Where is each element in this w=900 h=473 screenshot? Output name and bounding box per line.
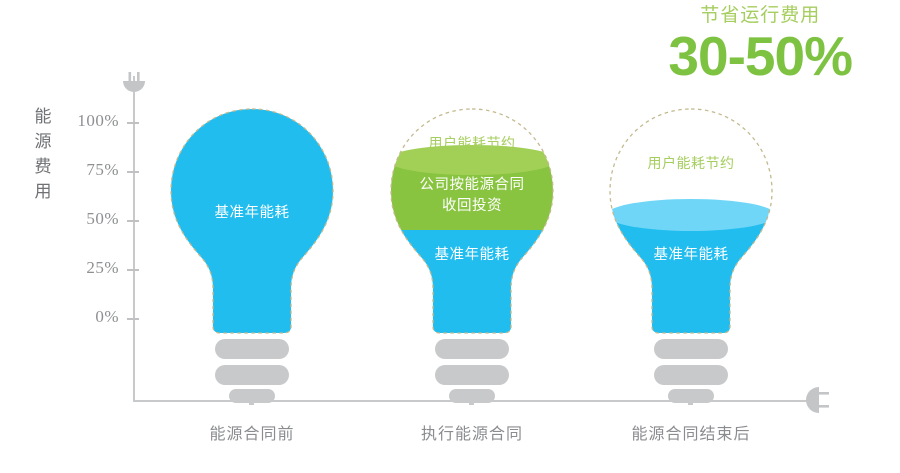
- y-tickmark: [127, 122, 139, 124]
- bulb-2-base: [387, 333, 557, 405]
- y-tick-75: 75%: [55, 171, 133, 172]
- category-label-1: 能源合同前: [142, 420, 362, 444]
- y-tickmark: [127, 220, 139, 222]
- bulb-1: 基准年能耗: [167, 105, 337, 405]
- y-tick-label-75: 75%: [59, 160, 119, 180]
- y-axis-line: [133, 76, 135, 402]
- y-tick-25: 25%: [55, 269, 133, 270]
- bulb-3-caption: 用户能耗节约: [606, 153, 776, 173]
- bulb-2-green-label: 公司按能源合同 收回投资: [387, 175, 557, 217]
- bulb-2-blue-label: 基准年能耗: [387, 245, 557, 266]
- socket-icon: [805, 383, 835, 417]
- headline-value: 30-50%: [668, 28, 852, 84]
- y-tick-label-0: 0%: [59, 307, 119, 327]
- bulb-3-blue-fill: [606, 215, 776, 335]
- bulb-2: 用户能耗节约 公司按能源合同 收回投资 基准年能耗: [387, 105, 557, 405]
- category-label-3: 能源合同结束后: [581, 420, 801, 444]
- category-label-2: 执行能源合同: [362, 420, 582, 444]
- y-tick-label-25: 25%: [59, 258, 119, 278]
- plug-icon: [120, 72, 148, 98]
- y-axis-title-char-2: 费: [30, 155, 56, 180]
- y-axis-title: 能源费用: [30, 105, 56, 205]
- y-tickmark: [127, 269, 139, 271]
- bulb-2-green-label-line2: 收回投资: [387, 196, 557, 217]
- bulb-1-base: [167, 333, 337, 405]
- bulb-2-caption: 用户能耗节约: [387, 133, 557, 153]
- bulb-3-blue-surface: [606, 199, 776, 231]
- bulb-3-blue-label: 基准年能耗: [606, 245, 776, 266]
- y-axis-title-char-0: 能: [30, 105, 56, 130]
- y-tick-label-50: 50%: [59, 209, 119, 229]
- bulb-2-green-label-line1: 公司按能源合同: [387, 175, 557, 196]
- y-tick-100: 100%: [55, 122, 133, 123]
- y-axis-title-char-3: 用: [30, 180, 56, 205]
- bulb-1-blue-label: 基准年能耗: [167, 203, 337, 224]
- headline-block: 节省运行费用 30-50%: [668, 2, 852, 84]
- y-axis-title-char-1: 源: [30, 130, 56, 155]
- y-tick-50: 50%: [55, 220, 133, 221]
- bulb-3-base: [606, 333, 776, 405]
- bulb-3-fill: [606, 105, 776, 335]
- bulb-3: 用户能耗节约 基准年能耗: [606, 105, 776, 405]
- y-tickmark: [127, 318, 139, 320]
- y-tick-label-100: 100%: [59, 111, 119, 131]
- y-tickmark: [127, 171, 139, 173]
- y-tick-0: 0%: [55, 318, 133, 319]
- infographic-canvas: 节省运行费用 30-50% 能源费用 100% 75% 50% 25% 0%: [0, 0, 900, 473]
